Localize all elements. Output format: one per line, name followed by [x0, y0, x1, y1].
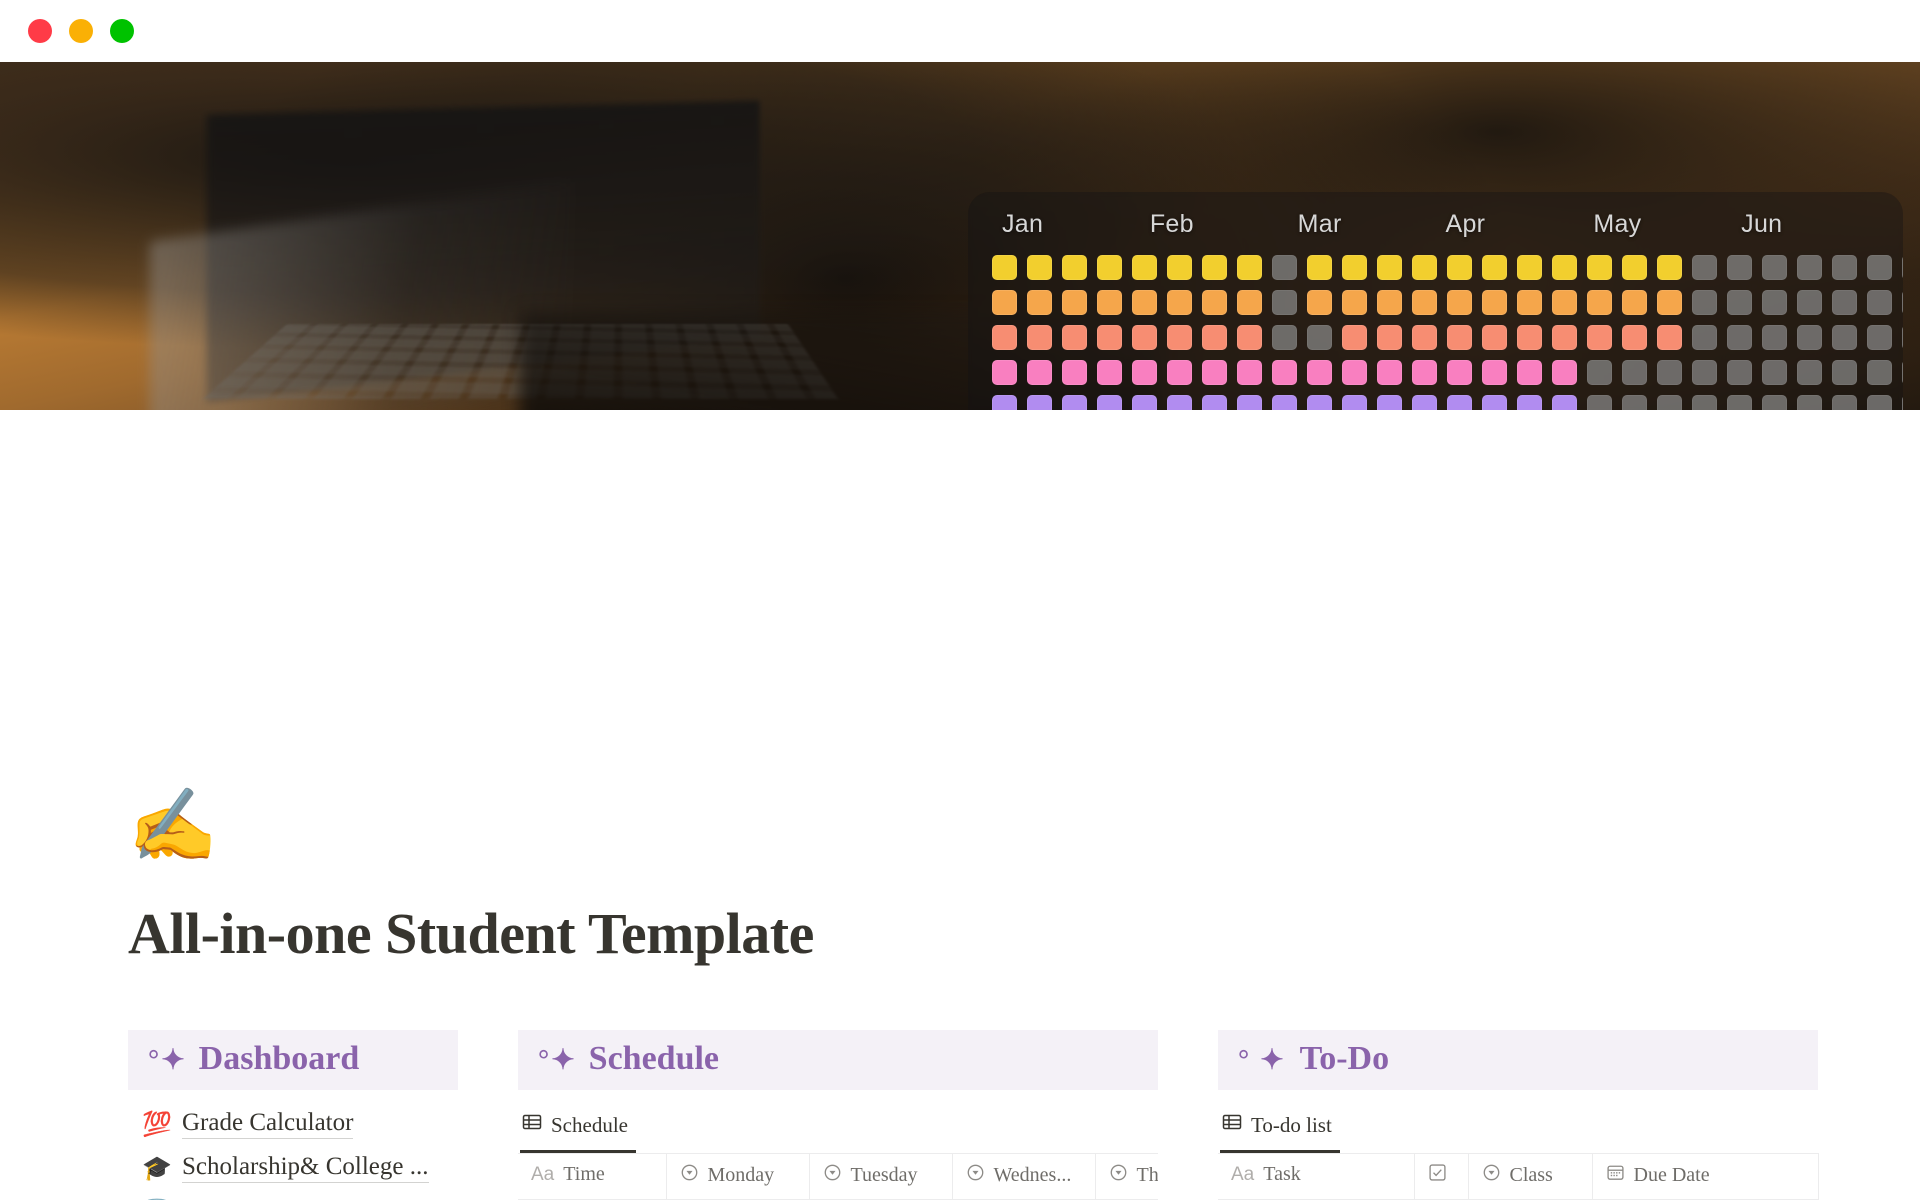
habit-cell[interactable] — [1832, 325, 1857, 350]
schedule-column-header[interactable]: Tuesday — [809, 1154, 952, 1200]
habit-cell[interactable] — [1412, 360, 1437, 385]
habit-cell[interactable] — [1517, 325, 1542, 350]
table-icon — [522, 1112, 542, 1138]
habit-cell[interactable] — [1797, 395, 1822, 410]
habit-cell[interactable] — [1167, 255, 1192, 280]
sparkle-icon: °✦ — [538, 1043, 577, 1077]
dashboard-heading-text: Dashboard — [199, 1040, 360, 1078]
select-type-icon — [1482, 1163, 1501, 1188]
habit-cell[interactable] — [1762, 360, 1787, 385]
habit-cell[interactable] — [1517, 290, 1542, 315]
select-type-icon — [680, 1163, 699, 1188]
schedule-column-header[interactable]: Wednes... — [952, 1154, 1095, 1200]
habit-cell[interactable] — [1552, 290, 1577, 315]
habit-cell[interactable] — [1692, 325, 1717, 350]
habit-cell[interactable] — [1552, 395, 1577, 410]
habit-cell[interactable] — [1097, 290, 1122, 315]
page-icon-writing-hand[interactable]: ✍️ — [128, 790, 218, 862]
habit-cell[interactable] — [1762, 395, 1787, 410]
habit-cell[interactable] — [1447, 255, 1472, 280]
dashboard-link-label: Scholarship& College ... — [182, 1153, 429, 1183]
habit-cell[interactable] — [992, 325, 1017, 350]
habit-cell[interactable] — [1132, 255, 1157, 280]
habit-cell[interactable] — [1447, 360, 1472, 385]
schedule-column-label: Wednes... — [994, 1164, 1072, 1187]
habit-cell[interactable] — [1167, 290, 1192, 315]
tab-schedule-label: Schedule — [551, 1113, 628, 1138]
habit-cell[interactable] — [992, 360, 1017, 385]
todo-view-tabs: To-do list — [1218, 1108, 1818, 1153]
habit-month-label: Feb — [1140, 210, 1288, 239]
schedule-column-label: Monday — [708, 1164, 775, 1187]
habit-cell[interactable] — [1167, 360, 1192, 385]
habit-cell[interactable] — [1377, 325, 1402, 350]
habit-month-label: Jun — [1731, 210, 1879, 239]
habit-cell[interactable] — [1692, 290, 1717, 315]
habit-cell[interactable] — [1867, 290, 1892, 315]
habit-cell[interactable] — [1027, 360, 1052, 385]
habit-cell[interactable] — [1307, 360, 1332, 385]
habit-cell[interactable] — [1342, 290, 1367, 315]
habit-cell[interactable] — [1517, 360, 1542, 385]
habit-cell[interactable] — [1097, 360, 1122, 385]
habit-cell[interactable] — [1902, 395, 1903, 410]
habit-cell[interactable] — [1447, 395, 1472, 410]
habit-cell[interactable] — [1132, 395, 1157, 410]
habit-cell[interactable] — [1342, 360, 1367, 385]
text-type-icon: Aa — [531, 1163, 554, 1186]
habit-cell[interactable] — [1412, 395, 1437, 410]
habit-cell[interactable] — [1097, 325, 1122, 350]
item-emoji-icon: 🎓 — [142, 1154, 170, 1183]
habit-cell[interactable] — [1377, 255, 1402, 280]
page-title: All-in-one Student Template — [128, 900, 814, 967]
todo-column-header[interactable]: Class — [1468, 1154, 1592, 1200]
habit-cell[interactable] — [1202, 255, 1227, 280]
page-columns: °✦ Dashboard 💯Grade Calculator🎓Scholarsh… — [0, 1030, 1920, 1200]
schedule-view-tabs: Schedule — [518, 1108, 1158, 1153]
habit-cell[interactable] — [1062, 360, 1087, 385]
schedule-column-label: Tuesday — [851, 1164, 918, 1187]
habit-month-label: May — [1583, 210, 1731, 239]
schedule-section-header: °✦ Schedule — [518, 1030, 1158, 1090]
habit-cell[interactable] — [1587, 255, 1612, 280]
todo-header-row: AaTaskClassDue Date — [1218, 1154, 1818, 1200]
habit-cell[interactable] — [992, 255, 1017, 280]
habit-cell[interactable] — [1412, 290, 1437, 315]
habit-cell[interactable] — [1307, 325, 1332, 350]
habit-cell[interactable] — [1132, 325, 1157, 350]
tab-todo-list-label: To-do list — [1251, 1113, 1332, 1138]
habit-cell[interactable] — [1587, 360, 1612, 385]
page-cover-banner: JanFebMarAprMayJun — [0, 62, 1920, 410]
habit-cell[interactable] — [1482, 255, 1507, 280]
habit-cell[interactable] — [1482, 360, 1507, 385]
habit-cell[interactable] — [1727, 325, 1752, 350]
habit-month-label: Apr — [1435, 210, 1583, 239]
dashboard-link-item[interactable]: 🗑️Archive — [128, 1190, 458, 1200]
habit-cell[interactable] — [1167, 395, 1192, 410]
habit-tracker-overlay: JanFebMarAprMayJun — [968, 192, 1903, 410]
left-column: °✦ Dashboard 💯Grade Calculator🎓Scholarsh… — [128, 1030, 458, 1200]
habit-cell[interactable] — [1272, 290, 1297, 315]
habit-cell[interactable] — [1342, 395, 1367, 410]
habit-cell[interactable] — [1552, 255, 1577, 280]
habit-cell[interactable] — [1482, 290, 1507, 315]
habit-cell[interactable] — [992, 290, 1017, 315]
schedule-column-header[interactable]: Thursda — [1095, 1154, 1158, 1200]
table-icon — [1222, 1112, 1242, 1138]
habit-cell[interactable] — [1797, 325, 1822, 350]
habit-cell[interactable] — [1727, 290, 1752, 315]
maximize-button[interactable] — [110, 19, 134, 43]
todo-column-header[interactable] — [1414, 1154, 1468, 1200]
habit-cell[interactable] — [1027, 325, 1052, 350]
habit-cell[interactable] — [1377, 360, 1402, 385]
habit-cell[interactable] — [1307, 395, 1332, 410]
habit-cell[interactable] — [1272, 255, 1297, 280]
habit-row — [992, 395, 1879, 410]
traffic-lights — [28, 19, 134, 43]
todo-column-label: Due Date — [1634, 1164, 1710, 1187]
habit-cell[interactable] — [1762, 325, 1787, 350]
schedule-heading-text: Schedule — [589, 1040, 719, 1078]
todo-column-header[interactable]: Due Date — [1592, 1154, 1818, 1200]
dashboard-link-list: 💯Grade Calculator🎓Scholarship& College .… — [128, 1102, 458, 1200]
habit-cell[interactable] — [1237, 290, 1262, 315]
habit-cell[interactable] — [1517, 395, 1542, 410]
habit-cell[interactable] — [1587, 290, 1612, 315]
schedule-table: AaTimeMondayTuesdayWednes...Thursda 9:00… — [518, 1153, 1158, 1200]
habit-cell[interactable] — [1832, 360, 1857, 385]
habit-cell[interactable] — [1727, 255, 1752, 280]
habit-row — [992, 360, 1879, 385]
todo-heading-text: To-Do — [1300, 1040, 1389, 1078]
habit-cell[interactable] — [1797, 255, 1822, 280]
habit-tracker-grid — [992, 255, 1879, 410]
todo-column: ° ✦ To-Do To-do list — [1218, 1030, 1818, 1200]
habit-cell[interactable] — [1027, 395, 1052, 410]
habit-row — [992, 255, 1879, 280]
schedule-column-label: Time — [563, 1163, 605, 1186]
habit-cell[interactable] — [1202, 325, 1227, 350]
habit-cell[interactable] — [1657, 360, 1682, 385]
habit-cell[interactable] — [1027, 255, 1052, 280]
habit-cell[interactable] — [1167, 325, 1192, 350]
todo-column-label: Task — [1263, 1163, 1300, 1186]
schedule-header-row: AaTimeMondayTuesdayWednes...Thursda — [518, 1154, 1158, 1200]
tab-todo-list[interactable]: To-do list — [1220, 1108, 1340, 1153]
select-type-icon — [823, 1163, 842, 1188]
habit-cell[interactable] — [1902, 290, 1903, 315]
habit-cell[interactable] — [1237, 360, 1262, 385]
habit-cell[interactable] — [1902, 255, 1903, 280]
habit-cell[interactable] — [1272, 360, 1297, 385]
habit-cell[interactable] — [1692, 255, 1717, 280]
habit-cell[interactable] — [1272, 395, 1297, 410]
habit-cell[interactable] — [1727, 395, 1752, 410]
habit-cell[interactable] — [1797, 290, 1822, 315]
dashboard-link-item[interactable]: 🎓Scholarship& College ... — [128, 1146, 458, 1190]
habit-cell[interactable] — [1552, 325, 1577, 350]
habit-cell[interactable] — [1272, 325, 1297, 350]
habit-cell[interactable] — [1202, 395, 1227, 410]
habit-cell[interactable] — [1762, 290, 1787, 315]
schedule-table-wrapper: AaTimeMondayTuesdayWednes...Thursda 9:00… — [518, 1153, 1158, 1200]
habit-cell[interactable] — [1377, 290, 1402, 315]
habit-cell[interactable] — [1657, 325, 1682, 350]
habit-cell[interactable] — [1902, 360, 1903, 385]
habit-cell[interactable] — [1622, 360, 1647, 385]
habit-cell[interactable] — [1342, 255, 1367, 280]
habit-cell[interactable] — [1447, 290, 1472, 315]
todo-section-header: ° ✦ To-Do — [1218, 1030, 1818, 1090]
habit-cell[interactable] — [1622, 325, 1647, 350]
habit-cell[interactable] — [992, 395, 1017, 410]
sparkle-icon: °✦ — [148, 1043, 187, 1077]
habit-cell[interactable] — [1657, 255, 1682, 280]
habit-cell[interactable] — [1552, 360, 1577, 385]
text-type-icon: Aa — [1231, 1163, 1254, 1186]
select-type-icon — [1109, 1163, 1128, 1188]
habit-cell[interactable] — [1657, 290, 1682, 315]
dashboard-section-header: °✦ Dashboard — [128, 1030, 458, 1090]
habit-cell[interactable] — [1622, 395, 1647, 410]
habit-cell[interactable] — [1587, 395, 1612, 410]
habit-cell[interactable] — [1412, 325, 1437, 350]
habit-cell[interactable] — [1062, 290, 1087, 315]
habit-cell[interactable] — [1657, 395, 1682, 410]
habit-cell[interactable] — [1027, 290, 1052, 315]
habit-cell[interactable] — [1867, 360, 1892, 385]
habit-cell[interactable] — [1832, 395, 1857, 410]
habit-cell[interactable] — [1622, 290, 1647, 315]
habit-cell[interactable] — [1132, 290, 1157, 315]
habit-cell[interactable] — [1902, 325, 1903, 350]
habit-cell[interactable] — [1237, 255, 1262, 280]
todo-column-header[interactable]: AaTask — [1218, 1154, 1414, 1200]
habit-row — [992, 290, 1879, 315]
habit-cell[interactable] — [1587, 325, 1612, 350]
habit-cell[interactable] — [1377, 395, 1402, 410]
habit-cell[interactable] — [1727, 360, 1752, 385]
habit-cell[interactable] — [1132, 360, 1157, 385]
dashboard-link-label: Grade Calculator — [182, 1109, 353, 1139]
habit-month-label: Jan — [992, 210, 1140, 239]
schedule-column: °✦ Schedule Schedule — [518, 1030, 1158, 1200]
checkbox-type-icon — [1428, 1163, 1447, 1188]
dashboard-link-item[interactable]: 💯Grade Calculator — [128, 1102, 458, 1146]
habit-cell[interactable] — [1062, 395, 1087, 410]
habit-cell[interactable] — [1097, 255, 1122, 280]
habit-cell[interactable] — [1517, 255, 1542, 280]
habit-cell[interactable] — [1867, 255, 1892, 280]
habit-cell[interactable] — [1482, 325, 1507, 350]
habit-cell[interactable] — [1482, 395, 1507, 410]
schedule-column-label: Thursda — [1137, 1164, 1159, 1187]
habit-cell[interactable] — [1692, 395, 1717, 410]
habit-cell[interactable] — [1867, 395, 1892, 410]
schedule-column-header[interactable]: AaTime — [518, 1154, 666, 1200]
minimize-button[interactable] — [69, 19, 93, 43]
schedule-column-header[interactable]: Monday — [666, 1154, 809, 1200]
sparkle-icon: ° ✦ — [1238, 1043, 1286, 1077]
habit-cell[interactable] — [1062, 325, 1087, 350]
habit-cell[interactable] — [1342, 325, 1367, 350]
habit-cell[interactable] — [1797, 360, 1822, 385]
habit-cell[interactable] — [1307, 290, 1332, 315]
habit-cell[interactable] — [1412, 255, 1437, 280]
window-titlebar — [0, 0, 1920, 62]
habit-cell[interactable] — [1202, 360, 1227, 385]
habit-cell[interactable] — [1832, 255, 1857, 280]
tab-schedule[interactable]: Schedule — [520, 1108, 636, 1153]
habit-cell[interactable] — [1097, 395, 1122, 410]
todo-table: AaTaskClassDue Date Revise Lecture Notes… — [1218, 1153, 1819, 1200]
habit-cell[interactable] — [1832, 290, 1857, 315]
habit-cell[interactable] — [1237, 395, 1262, 410]
select-type-icon — [966, 1163, 985, 1188]
habit-cell[interactable] — [1622, 255, 1647, 280]
todo-column-label: Class — [1510, 1164, 1553, 1187]
habit-cell[interactable] — [1062, 255, 1087, 280]
habit-cell[interactable] — [1237, 325, 1262, 350]
habit-month-label: Mar — [1288, 210, 1436, 239]
habit-cell[interactable] — [1307, 255, 1332, 280]
habit-cell[interactable] — [1692, 360, 1717, 385]
habit-cell[interactable] — [1447, 325, 1472, 350]
habit-cell[interactable] — [1867, 325, 1892, 350]
date-type-icon — [1606, 1163, 1625, 1188]
close-button[interactable] — [28, 19, 52, 43]
habit-tracker-month-labels: JanFebMarAprMayJun — [992, 210, 1879, 239]
habit-row — [992, 325, 1879, 350]
item-emoji-icon: 💯 — [142, 1110, 170, 1139]
habit-cell[interactable] — [1762, 255, 1787, 280]
habit-cell[interactable] — [1202, 290, 1227, 315]
